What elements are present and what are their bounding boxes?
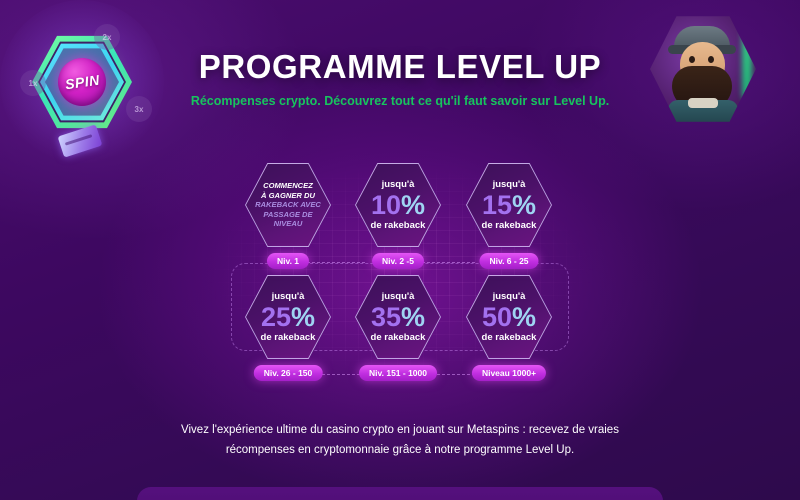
- rakeback-prefix: jusqu'à: [493, 291, 526, 302]
- start-line-5: NIVEAU: [255, 219, 321, 229]
- rakeback-number: 10: [371, 190, 401, 220]
- rakeback-suffix: de rakeback: [371, 220, 426, 231]
- hexagon-border: jusqu'à 35% de rakeback: [355, 275, 441, 359]
- page-subtitle: Récompenses crypto. Découvrez tout ce qu…: [0, 94, 800, 108]
- rakeback-prefix: jusqu'à: [382, 291, 415, 302]
- rakeback-number: 35: [371, 302, 401, 332]
- level-card-6[interactable]: jusqu'à 50% de rakeback Niveau 1000+: [466, 275, 552, 359]
- start-line-3: RAKEBACK AVEC: [255, 200, 321, 210]
- rakeback-percent: 15%: [482, 191, 536, 219]
- percent-symbol: %: [401, 302, 425, 332]
- level-card-3[interactable]: jusqu'à 15% de rakeback Niv. 6 - 25: [466, 163, 552, 247]
- hexagon-body: jusqu'à 15% de rakeback: [467, 164, 551, 246]
- level-row-1: COMMENCEZ À GAGNER DU RAKEBACK AVEC PASS…: [245, 163, 555, 263]
- rakeback-suffix: de rakeback: [482, 220, 537, 231]
- rakeback-number: 50: [482, 302, 512, 332]
- footer-description: Vivez l'expérience ultime du casino cryp…: [150, 420, 650, 460]
- level-grid: COMMENCEZ À GAGNER DU RAKEBACK AVEC PASS…: [245, 163, 555, 383]
- rakeback-suffix: de rakeback: [261, 332, 316, 343]
- rakeback-percent: 10%: [371, 191, 425, 219]
- level-badge[interactable]: Niv. 26 - 150: [254, 365, 323, 381]
- rakeback-number: 15: [482, 190, 512, 220]
- rakeback-percent: 50%: [482, 303, 536, 331]
- start-message: COMMENCEZ À GAGNER DU RAKEBACK AVEC PASS…: [250, 181, 326, 229]
- percent-symbol: %: [291, 302, 315, 332]
- hexagon-body: COMMENCEZ À GAGNER DU RAKEBACK AVEC PASS…: [246, 164, 330, 246]
- hexagon-border: jusqu'à 25% de rakeback: [245, 275, 331, 359]
- hexagon-border: COMMENCEZ À GAGNER DU RAKEBACK AVEC PASS…: [245, 163, 331, 247]
- hexagon-border: jusqu'à 15% de rakeback: [466, 163, 552, 247]
- hexagon-body: jusqu'à 10% de rakeback: [356, 164, 440, 246]
- level-card-1[interactable]: COMMENCEZ À GAGNER DU RAKEBACK AVEC PASS…: [245, 163, 331, 247]
- level-badge[interactable]: Niv. 6 - 25: [479, 253, 538, 269]
- start-line-4: PASSAGE DE: [255, 210, 321, 220]
- rakeback-suffix: de rakeback: [482, 332, 537, 343]
- hexagon-border: jusqu'à 50% de rakeback: [466, 275, 552, 359]
- rakeback-percent: 25%: [261, 303, 315, 331]
- level-badge[interactable]: Niv. 2 -5: [372, 253, 424, 269]
- hexagon-body: jusqu'à 50% de rakeback: [467, 276, 551, 358]
- start-line-1: COMMENCEZ: [255, 181, 321, 191]
- page-title: PROGRAMME LEVEL UP: [0, 48, 800, 86]
- level-badge[interactable]: Niv. 1: [267, 253, 309, 269]
- percent-symbol: %: [512, 190, 536, 220]
- rakeback-number: 25: [261, 302, 291, 332]
- connector-line: [307, 262, 365, 263]
- hexagon-body: jusqu'à 35% de rakeback: [356, 276, 440, 358]
- rakeback-prefix: jusqu'à: [272, 291, 305, 302]
- rakeback-percent: 35%: [371, 303, 425, 331]
- bottom-panel: [137, 487, 663, 500]
- level-badge[interactable]: Niv. 151 - 1000: [359, 365, 437, 381]
- percent-symbol: %: [401, 190, 425, 220]
- rakeback-prefix: jusqu'à: [382, 179, 415, 190]
- hexagon-body: jusqu'à 25% de rakeback: [246, 276, 330, 358]
- multiplier-badge-2x: 2x: [94, 24, 120, 50]
- level-badge[interactable]: Niveau 1000+: [472, 365, 546, 381]
- percent-symbol: %: [512, 302, 536, 332]
- start-line-2: À GAGNER DU: [255, 191, 321, 201]
- level-card-2[interactable]: jusqu'à 10% de rakeback Niv. 2 -5: [355, 163, 441, 247]
- level-card-4[interactable]: jusqu'à 25% de rakeback Niv. 26 - 150: [245, 275, 331, 359]
- hexagon-border: jusqu'à 10% de rakeback: [355, 163, 441, 247]
- level-card-5[interactable]: jusqu'à 35% de rakeback Niv. 151 - 1000: [355, 275, 441, 359]
- rakeback-prefix: jusqu'à: [493, 179, 526, 190]
- connector-line: [417, 262, 475, 263]
- level-row-2: jusqu'à 25% de rakeback Niv. 26 - 150 ju…: [245, 275, 555, 375]
- rakeback-suffix: de rakeback: [371, 332, 426, 343]
